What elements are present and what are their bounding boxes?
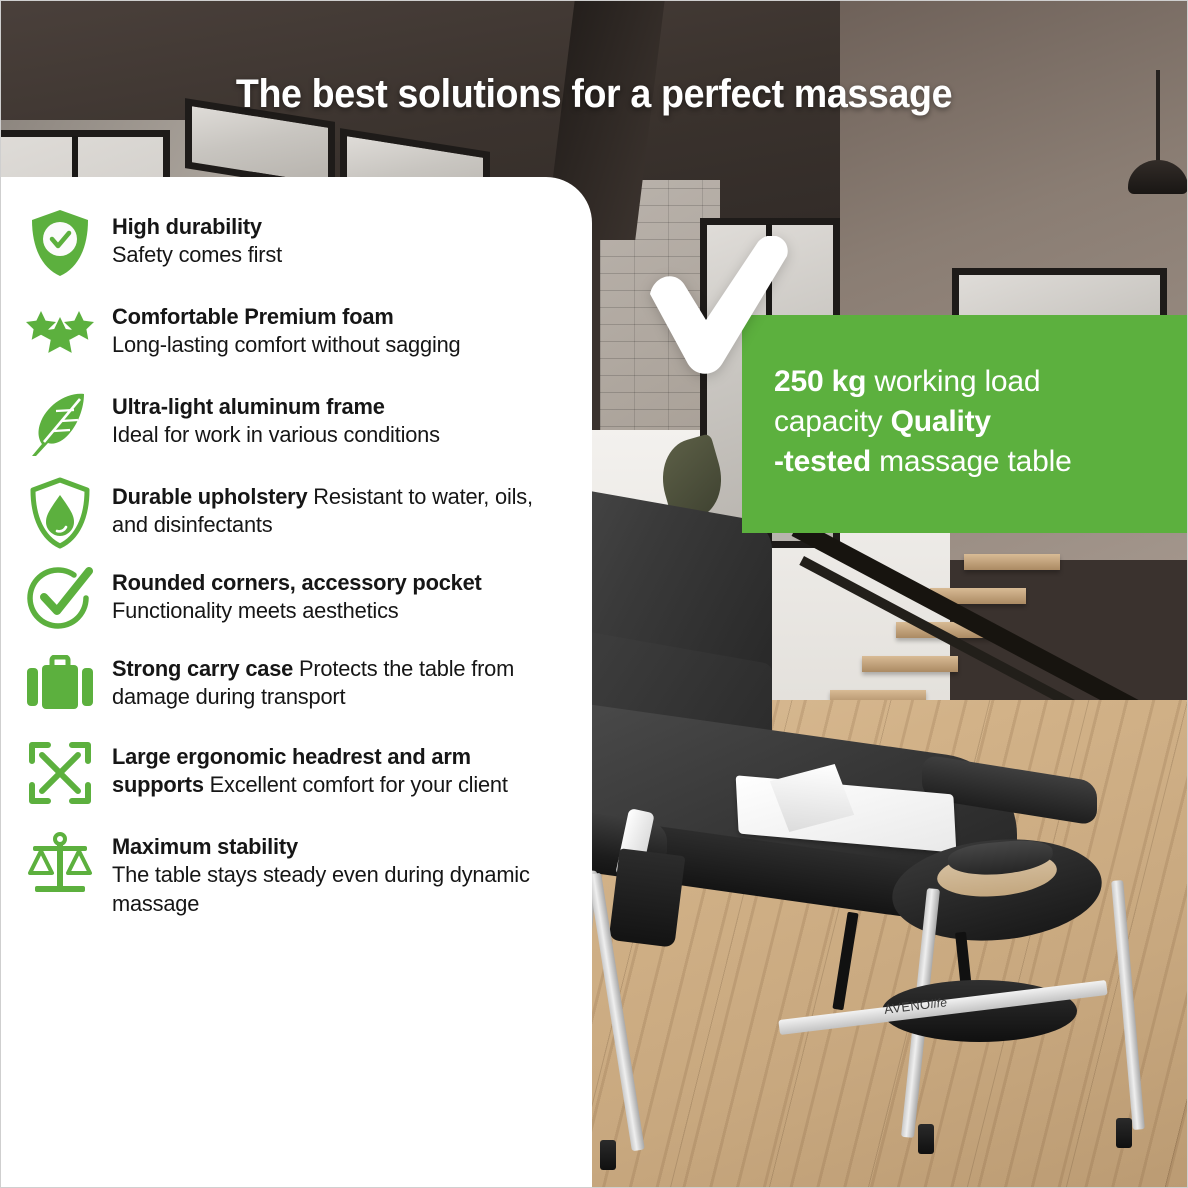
claim-text: 250 kg working load capacity Quality -te… [774,362,1170,482]
feature-item-premium-foam: Comfortable Premium foam Long-lasting co… [22,295,576,371]
feature-item-headrest-arm-supports: Large ergonomic headrest and arm support… [22,735,576,811]
table-foot-d [1116,1118,1132,1148]
product-infographic: AVENOlife The best solutions for a perfe… [0,0,1188,1188]
circle-check-icon [22,561,98,637]
feature-desc: Excellent comfort for your client [204,772,508,797]
feature-item-durable-upholstery: Durable upholstery Resistant to water, o… [22,475,576,551]
claim-line1-rest: working load [866,365,1040,398]
table-foot-c [918,1124,934,1154]
feature-text: Durable upholstery Resistant to water, o… [112,475,562,540]
feature-title: Maximum stability [112,834,298,859]
feature-desc: The table stays steady even during dynam… [112,862,530,915]
feature-desc: Ideal for work in various conditions [112,422,440,447]
feature-text: Ultra-light aluminum frame Ideal for wor… [112,385,440,450]
table-leg-d [1111,880,1145,1130]
feature-item-rounded-corners: Rounded corners, accessory pocket Functi… [22,561,576,637]
feature-item-maximum-stability: Maximum stability The table stays steady… [22,825,576,918]
feature-title: High durability [112,214,262,239]
feature-text: Maximum stability The table stays steady… [112,825,562,918]
feature-text: High durability Safety comes first [112,205,282,270]
brand-logo-suffix: life [930,995,949,1011]
feature-title: Durable upholstery [112,484,307,509]
feather-icon [22,385,98,461]
feature-text: Comfortable Premium foam Long-lasting co… [112,295,460,360]
expand-arrows-icon [22,735,98,811]
features-panel: High durability Safety comes first Comfo… [0,177,592,1188]
feature-item-high-durability: High durability Safety comes first [22,205,576,281]
feature-title: Comfortable Premium foam [112,304,394,329]
accessory-pocket [609,848,686,947]
claim-line3-rest: massage table [871,445,1072,478]
feature-title: Strong carry case [112,656,293,681]
feature-text: Rounded corners, accessory pocket Functi… [112,561,562,626]
support-strap-left [832,912,858,1011]
feature-title: Rounded corners, accessory pocket [112,570,482,595]
check-mark-icon [640,236,810,376]
massage-table-product-image: AVENOlife [592,480,1188,1188]
feature-title: Ultra-light aluminum frame [112,394,385,419]
claim-quality-word: Quality [891,405,991,438]
feature-item-carry-case: Strong carry case Protects the table fro… [22,647,576,723]
feature-text: Strong carry case Protects the table fro… [112,647,562,712]
claim-tested-word: -tested [774,445,871,478]
shield-check-icon [22,205,98,281]
balance-scale-icon [22,825,98,901]
feature-item-aluminum-frame: Ultra-light aluminum frame Ideal for wor… [22,385,576,461]
feature-text: Large ergonomic headrest and arm support… [112,735,562,800]
suitcase-icon [22,647,98,723]
pendant-lamp-rod [1156,70,1160,170]
feature-desc: Long-lasting comfort without sagging [112,332,460,357]
page-title: The best solutions for a perfect massage [36,72,1153,117]
feature-desc: Safety comes first [112,242,282,267]
three-stars-icon [22,295,98,371]
claim-line2-rest: capacity [774,405,891,438]
feature-desc: Functionality meets aesthetics [112,598,399,623]
shield-droplet-icon [22,475,98,551]
table-foot-b [600,1140,616,1170]
